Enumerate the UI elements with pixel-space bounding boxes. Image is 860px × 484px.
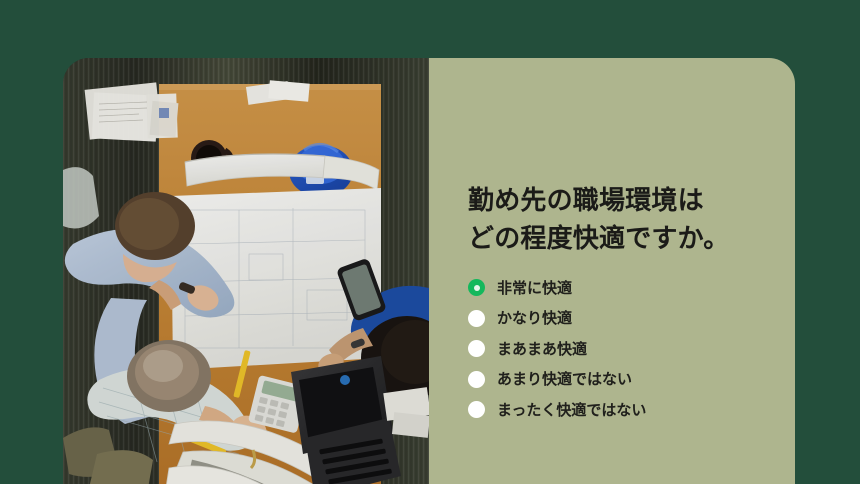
survey-card: 勤め先の職場環境は どの程度快適ですか。 非常に快適 かなり快適 まあまあ快適 … bbox=[63, 58, 795, 484]
option-row-1[interactable]: 非常に快適 bbox=[468, 272, 768, 303]
option-label-1: 非常に快適 bbox=[497, 279, 572, 297]
radio-button-selected-icon[interactable] bbox=[468, 279, 485, 296]
option-label-5: まったく快適ではない bbox=[497, 401, 646, 419]
option-row-3[interactable]: まあまあ快適 bbox=[468, 333, 768, 364]
option-row-5[interactable]: まったく快適ではない bbox=[468, 394, 768, 425]
option-row-2[interactable]: かなり快適 bbox=[468, 303, 768, 334]
radio-button-icon[interactable] bbox=[468, 371, 485, 388]
option-label-2: かなり快適 bbox=[497, 309, 572, 327]
radio-button-icon[interactable] bbox=[468, 401, 485, 418]
question-title: 勤め先の職場環境は どの程度快適ですか。 bbox=[468, 182, 768, 258]
workplace-photo bbox=[63, 58, 429, 484]
option-row-4[interactable]: あまり快適ではない bbox=[468, 364, 768, 395]
radio-button-icon[interactable] bbox=[468, 310, 485, 327]
option-label-3: まあまあ快適 bbox=[497, 340, 587, 358]
question-pane: 勤め先の職場環境は どの程度快適ですか。 非常に快適 かなり快適 まあまあ快適 … bbox=[429, 58, 795, 484]
radio-button-icon[interactable] bbox=[468, 340, 485, 357]
workplace-photo-illustration bbox=[63, 58, 429, 484]
answer-options-group[interactable]: 非常に快適 かなり快適 まあまあ快適 あまり快適ではない まったく快適ではない bbox=[468, 272, 768, 425]
option-label-4: あまり快適ではない bbox=[497, 370, 632, 388]
survey-slide: 勤め先の職場環境は どの程度快適ですか。 非常に快適 かなり快適 まあまあ快適 … bbox=[0, 0, 860, 484]
